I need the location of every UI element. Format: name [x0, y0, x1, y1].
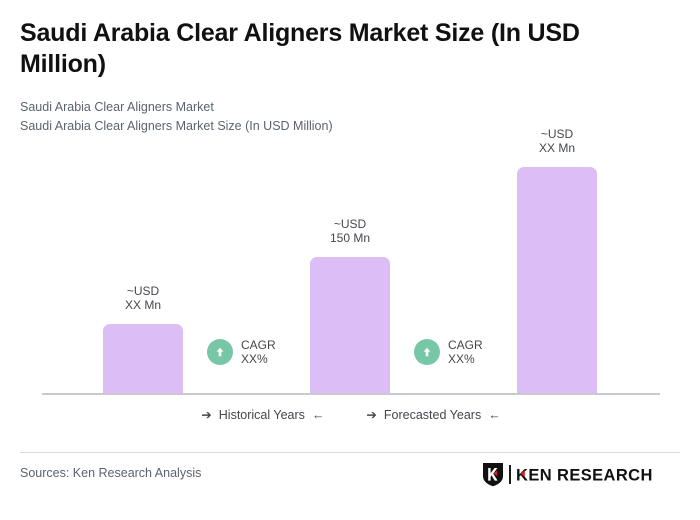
arrow-left-icon: ←	[488, 409, 501, 422]
period-label-historical: Historical Years	[219, 408, 305, 422]
ken-research-shield-icon	[482, 462, 504, 487]
bar-mid	[310, 257, 390, 394]
period-forecasted: ➔ Forecasted Years ←	[366, 408, 500, 422]
period-label-row: ➔ Historical Years ← ➔ Forecasted Years …	[42, 408, 660, 422]
bar-historical	[103, 324, 183, 394]
up-arrow-icon	[414, 339, 440, 365]
cagr-label-forecast: CAGR XX%	[448, 338, 483, 367]
up-arrow-icon	[207, 339, 233, 365]
ken-research-logo: KEN RESEARCH	[482, 462, 664, 487]
sources-text: Sources: Ken Research Analysis	[20, 466, 201, 480]
bar-value-label-forecast: ~USD XX Mn	[517, 127, 597, 156]
logo-divider	[509, 465, 511, 484]
period-historical: ➔ Historical Years ←	[201, 408, 324, 422]
period-label-forecasted: Forecasted Years	[384, 408, 481, 422]
cagr-label-historical: CAGR XX%	[241, 338, 276, 367]
bar-value-label-historical: ~USD XX Mn	[103, 284, 183, 313]
footer-divider	[20, 452, 680, 453]
axis-baseline	[42, 393, 660, 395]
arrow-right-icon: ➔	[366, 409, 376, 422]
bar-forecast	[517, 167, 597, 394]
chart-page: Saudi Arabia Clear Aligners Market Size …	[0, 0, 700, 520]
cagr-badge-historical: CAGR XX%	[207, 338, 276, 367]
arrow-left-icon: ←	[312, 409, 325, 422]
chart-plot-area: ~USD XX Mn ~USD 150 Mn ~USD XX Mn CAGR X…	[0, 0, 700, 400]
svg-text:KEN RESEARCH: KEN RESEARCH	[516, 466, 653, 484]
bar-value-label-mid: ~USD 150 Mn	[310, 217, 390, 246]
cagr-badge-forecast: CAGR XX%	[414, 338, 483, 367]
arrow-right-icon: ➔	[201, 409, 211, 422]
ken-research-wordmark: KEN RESEARCH	[516, 464, 664, 486]
